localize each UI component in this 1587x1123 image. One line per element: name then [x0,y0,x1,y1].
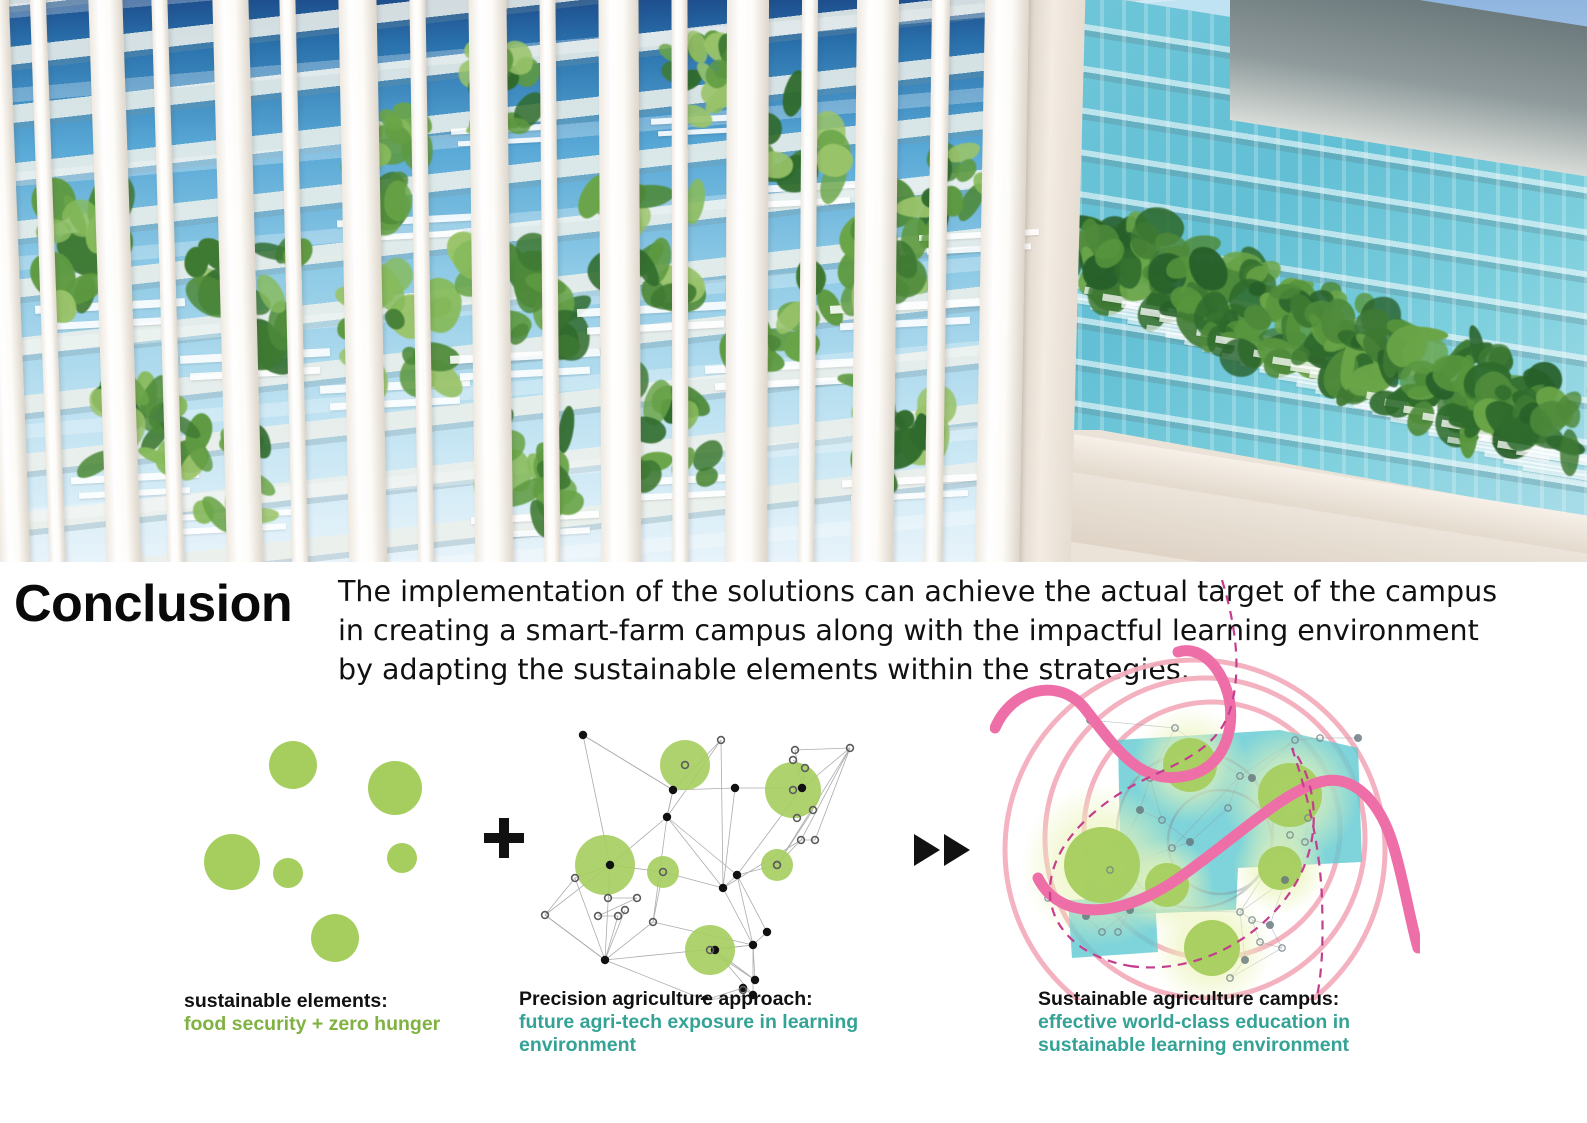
bubble [204,834,260,890]
bubble [761,849,793,881]
caption-sustainable-elements: sustainable elements: food security + ze… [184,990,514,1036]
bubble [1266,921,1274,929]
bubble [1184,920,1240,976]
caption-sustainable-campus: Sustainable agriculture campus: effectiv… [1038,988,1438,1057]
edge [545,915,605,960]
edge [737,875,753,945]
louver-fin [468,0,514,562]
bubble [663,813,671,821]
edge [723,788,735,888]
double-right-arrow-icon [912,830,974,870]
caption-subtitle: food security + zero hunger [184,1013,514,1036]
bubble [765,762,821,818]
bubble [269,741,317,789]
page-title: Conclusion [14,578,292,630]
caption-title: sustainable elements: [184,990,514,1013]
bubble [798,784,806,792]
bubble [387,843,417,873]
louver-fin [598,0,641,562]
bubble [1354,734,1362,742]
bubble [751,976,759,984]
louver-fin [851,0,900,562]
bubble [575,835,635,895]
bubble [733,871,741,879]
bubble [763,928,771,936]
slide-page: Conclusion The implementation of the sol… [0,0,1587,1123]
caption-title: Sustainable agriculture campus: [1038,988,1438,1011]
bubble [1248,774,1256,782]
caption-title: Precision agriculture approach: [519,988,939,1011]
bubble [1186,838,1194,846]
bubble-group [204,741,422,962]
diagram-sustainable-campus [990,580,1420,1000]
caption-precision-agriculture: Precision agriculture approach: future a… [519,988,939,1057]
architectural-render-photo [0,0,1587,562]
bubble [1241,956,1249,964]
edge [545,878,575,915]
bubble [719,884,727,892]
bubble [731,784,739,792]
louver-fin [671,0,688,562]
diagram-precision-agriculture [505,700,875,1000]
diagram-sustainable-elements [180,710,480,970]
bubble [311,914,359,962]
bubble [669,786,677,794]
louver-fin [725,0,769,562]
bubble [1281,876,1289,884]
caption-subtitle: future agri-tech exposure in learning en… [519,1011,939,1057]
bubble [647,856,679,888]
caption-subtitle: effective world-class education in susta… [1038,1011,1438,1057]
bubble [273,858,303,888]
bubble [660,740,710,790]
bubble-group [575,740,821,975]
conclusion-panel: Conclusion The implementation of the sol… [0,562,1587,1123]
bubble [685,925,735,975]
bubble [606,861,614,869]
bubble [368,761,422,815]
bubble [1064,827,1140,903]
bubble [579,731,587,739]
edge [795,748,850,750]
edge [583,735,673,790]
bubble [1136,806,1144,814]
bubble [749,941,757,949]
bubble [601,956,609,964]
edge [721,740,723,888]
